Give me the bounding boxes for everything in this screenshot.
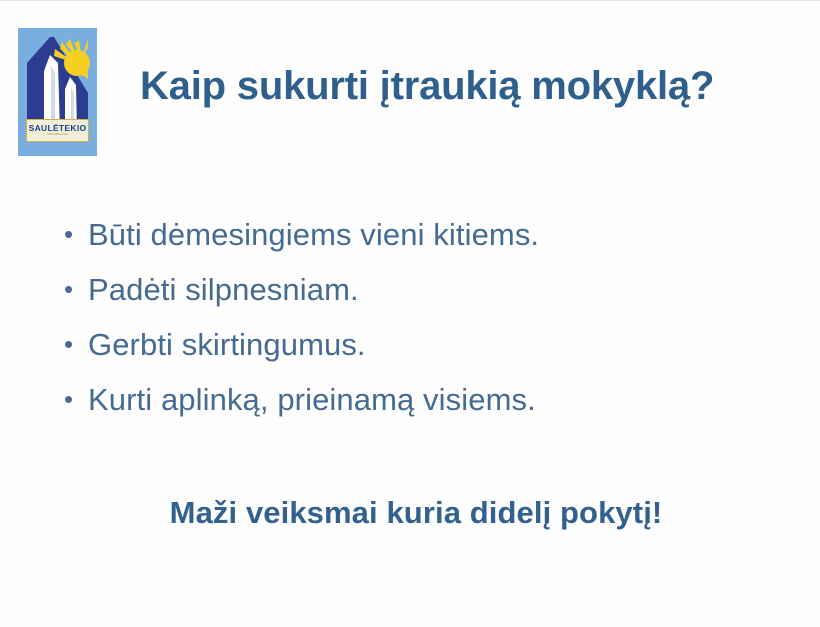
sauletekio-logo: SAULĖTEKIO PROGIMNAZIJA [18,28,97,156]
list-item: • Padėti silpnesniam. [64,272,784,327]
logo-band-title: SAULĖTEKIO [29,124,87,133]
logo-artwork: SAULĖTEKIO PROGIMNAZIJA [24,33,91,151]
list-item-label: Gerbti skirtingumus. [88,327,366,363]
logo-band-subtitle: PROGIMNAZIJA [47,134,68,137]
closing-statement: Maži veiksmai kuria didelį pokytį! [0,495,820,531]
list-item: • Gerbti skirtingumus. [64,327,784,382]
closing-statement-text: Maži veiksmai kuria didelį pokytį! [170,495,663,530]
bullet-marker-icon: • [64,276,88,302]
bullet-marker-icon: • [64,221,88,247]
list-item-label: Būti dėmesingiems vieni kitiems. [88,217,539,253]
bullet-marker-icon: • [64,331,88,357]
bullet-list: • Būti dėmesingiems vieni kitiems. • Pad… [64,217,784,437]
page-title: Kaip sukurti įtraukią mokyklą? [140,64,714,109]
bullet-marker-icon: • [64,386,88,412]
slide-header: SAULĖTEKIO PROGIMNAZIJA Kaip sukurti įtr… [0,1,820,176]
list-item-label: Padėti silpnesniam. [88,272,359,308]
list-item: • Kurti aplinką, prieinamą visiems. [64,382,784,437]
list-item-label: Kurti aplinką, prieinamą visiems. [88,382,536,418]
slide: SAULĖTEKIO PROGIMNAZIJA Kaip sukurti įtr… [0,0,820,627]
list-item: • Būti dėmesingiems vieni kitiems. [64,217,784,272]
logo-nameplate: SAULĖTEKIO PROGIMNAZIJA [26,119,89,142]
